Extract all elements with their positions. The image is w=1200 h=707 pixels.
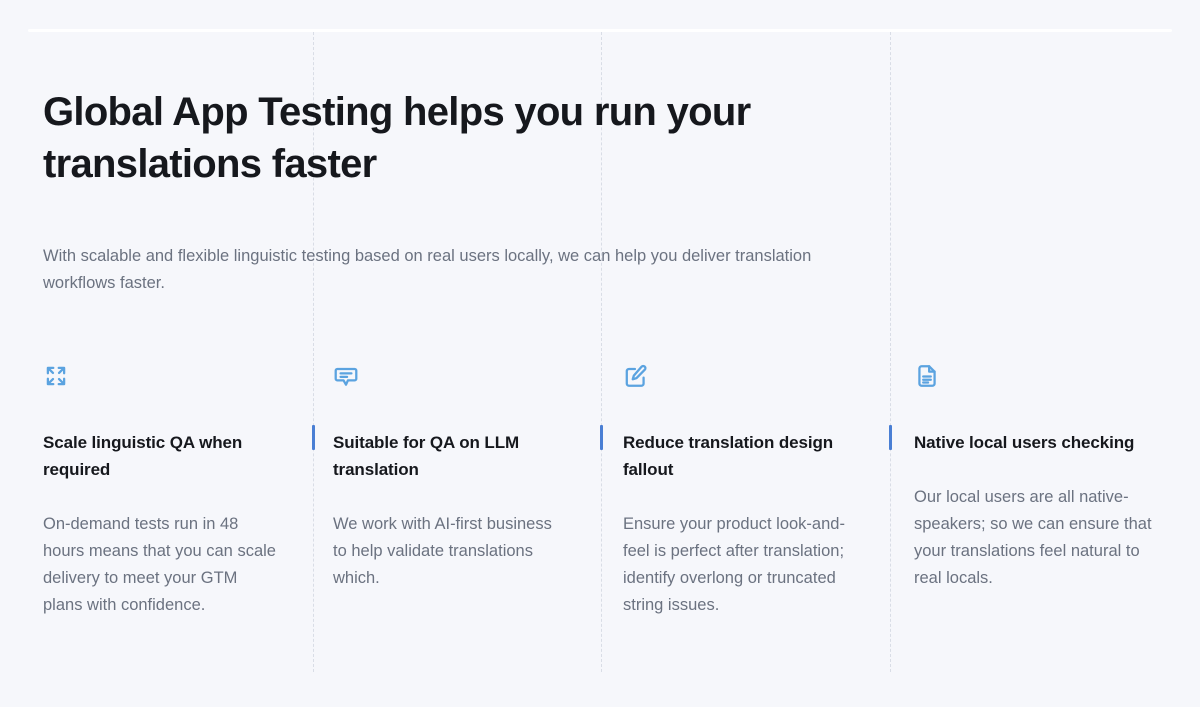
feature-title: Scale linguistic QA when required (43, 429, 277, 483)
feature-body: Our local users are all native-speakers;… (914, 484, 1164, 592)
feature-title: Suitable for QA on LLM translation (333, 429, 565, 483)
feature-body: On-demand tests run in 48 hours means th… (43, 511, 277, 619)
message-bubble-icon (333, 363, 565, 393)
feature-column-2: Suitable for QA on LLM translation We wo… (313, 363, 601, 619)
feature-body: Ensure your product look-and-feel is per… (623, 511, 854, 619)
feature-column-4: Native local users checking Our local us… (890, 363, 1200, 619)
feature-body: We work with AI-first business to help v… (333, 511, 565, 592)
expand-icon (43, 363, 277, 393)
document-text-icon (914, 363, 1164, 393)
feature-title: Native local users checking (914, 429, 1164, 456)
page-title: Global App Testing helps you run your tr… (43, 86, 773, 190)
feature-column-3: Reduce translation design fallout Ensure… (601, 363, 890, 619)
feature-columns: Scale linguistic QA when required On-dem… (0, 363, 1200, 619)
page-subtitle: With scalable and flexible linguistic te… (43, 243, 868, 297)
feature-title: Reduce translation design fallout (623, 429, 854, 483)
top-divider-rule (28, 29, 1172, 32)
feature-column-1: Scale linguistic QA when required On-dem… (0, 363, 313, 619)
edit-pencil-icon (623, 363, 854, 393)
